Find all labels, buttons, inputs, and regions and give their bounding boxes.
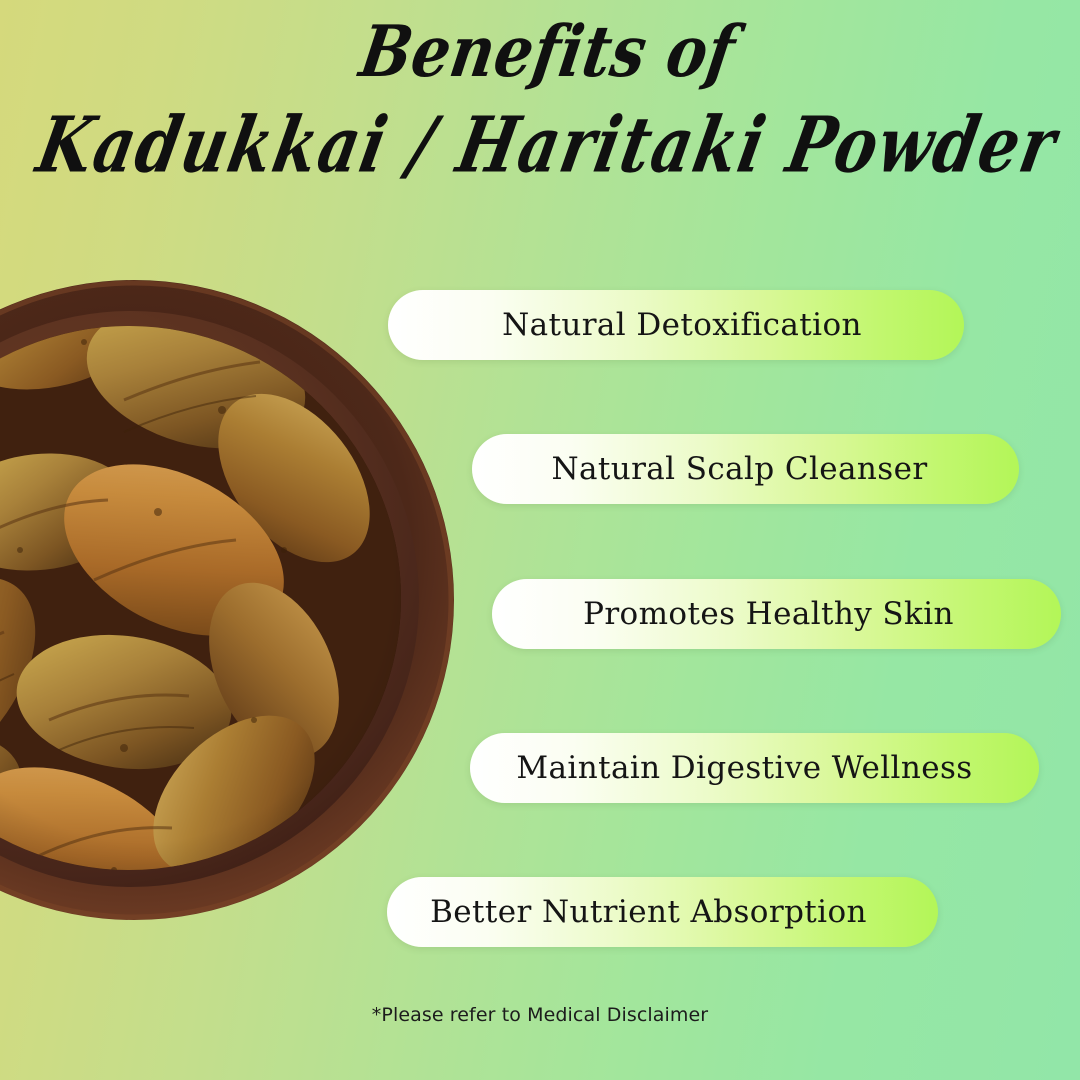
benefit-label-2: Natural Scalp Cleanser bbox=[551, 451, 927, 487]
benefits-poster: Benefits of Kadukkai / Haritaki Powder bbox=[0, 0, 1080, 1080]
benefit-pill-4[interactable]: Maintain Digestive Wellness bbox=[470, 733, 1039, 803]
product-image bbox=[0, 250, 464, 950]
benefit-pill-2[interactable]: Natural Scalp Cleanser bbox=[472, 434, 1019, 504]
benefit-pill-1[interactable]: Natural Detoxification bbox=[388, 290, 964, 360]
haritaki-fruit-cluster bbox=[0, 250, 464, 950]
benefit-label-4: Maintain Digestive Wellness bbox=[516, 750, 972, 786]
haritaki-bowl-illustration bbox=[0, 250, 464, 950]
page-title-line-1: Benefits of bbox=[0, 17, 1080, 88]
benefit-pill-3[interactable]: Promotes Healthy Skin bbox=[492, 579, 1061, 649]
page-title: Benefits of Kadukkai / Haritaki Powder bbox=[0, 28, 1080, 184]
benefit-label-1: Natural Detoxification bbox=[502, 307, 862, 343]
benefit-label-5: Better Nutrient Absorption bbox=[430, 894, 867, 930]
benefit-label-3: Promotes Healthy Skin bbox=[583, 596, 954, 632]
medical-disclaimer-note: *Please refer to Medical Disclaimer bbox=[300, 1004, 780, 1026]
benefit-pill-5[interactable]: Better Nutrient Absorption bbox=[387, 877, 938, 947]
page-title-line-2: Kadukkai / Haritaki Powder bbox=[0, 107, 1080, 184]
